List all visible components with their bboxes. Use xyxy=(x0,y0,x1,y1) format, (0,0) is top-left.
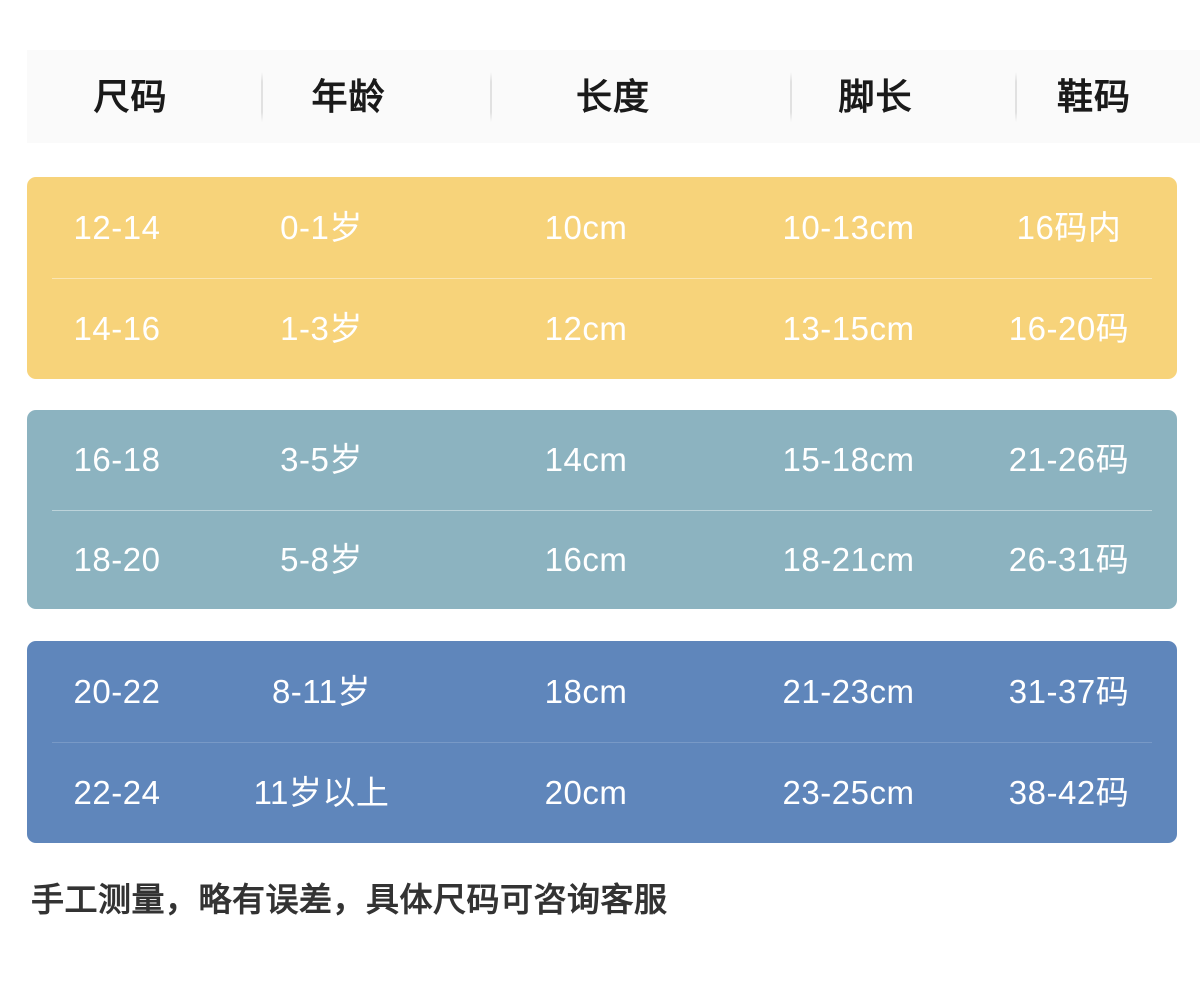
cell-foot-length: 23-25cm xyxy=(736,742,961,843)
column-header-length-label: 长度 xyxy=(576,79,650,115)
column-header-length: 长度 xyxy=(463,50,763,143)
cell-age: 3-5岁 xyxy=(207,410,436,510)
size-group-block: 16-18 3-5岁 14cm 15-18cm 21-26码 18-20 5-8… xyxy=(27,410,1177,609)
column-header-age: 年龄 xyxy=(234,50,463,143)
column-header-size-label: 尺码 xyxy=(93,79,167,115)
cell-size: 16-18 xyxy=(27,410,207,510)
cell-length: 20cm xyxy=(436,742,736,843)
column-header-age-label: 年龄 xyxy=(311,79,385,115)
cell-foot-length: 21-23cm xyxy=(736,641,961,742)
table-row: 22-24 11岁以上 20cm 23-25cm 38-42码 xyxy=(27,742,1177,843)
header-column-divider xyxy=(261,72,263,122)
cell-age: 11岁以上 xyxy=(207,742,436,843)
table-row: 12-14 0-1岁 10cm 10-13cm 16码内 xyxy=(27,177,1177,278)
size-group-block: 20-22 8-11岁 18cm 21-23cm 31-37码 22-24 11… xyxy=(27,641,1177,843)
column-header-shoe-size-label: 鞋码 xyxy=(1057,79,1131,115)
column-header-foot-length: 脚长 xyxy=(763,50,988,143)
header-column-divider xyxy=(1015,72,1017,122)
cell-shoe-size: 16-20码 xyxy=(961,278,1177,379)
cell-age: 0-1岁 xyxy=(207,177,436,278)
cell-shoe-size: 16码内 xyxy=(961,177,1177,278)
cell-size: 18-20 xyxy=(27,510,207,610)
measurement-note: 手工测量，略有误差，具体尺码可咨询客服 xyxy=(31,880,668,920)
cell-length: 10cm xyxy=(436,177,736,278)
column-header-shoe-size: 鞋码 xyxy=(988,50,1200,143)
header-column-divider xyxy=(490,72,492,122)
table-row: 16-18 3-5岁 14cm 15-18cm 21-26码 xyxy=(27,410,1177,510)
cell-length: 18cm xyxy=(436,641,736,742)
cell-foot-length: 13-15cm xyxy=(736,278,961,379)
cell-shoe-size: 38-42码 xyxy=(961,742,1177,843)
cell-age: 5-8岁 xyxy=(207,510,436,610)
column-header-foot-length-label: 脚长 xyxy=(838,79,912,115)
cell-size: 14-16 xyxy=(27,278,207,379)
table-row: 20-22 8-11岁 18cm 21-23cm 31-37码 xyxy=(27,641,1177,742)
column-header-size: 尺码 xyxy=(27,50,234,143)
cell-size: 20-22 xyxy=(27,641,207,742)
cell-shoe-size: 21-26码 xyxy=(961,410,1177,510)
cell-size: 22-24 xyxy=(27,742,207,843)
cell-shoe-size: 31-37码 xyxy=(961,641,1177,742)
cell-length: 14cm xyxy=(436,410,736,510)
size-chart: 尺码 年龄 长度 脚长 鞋码 12-14 0-1岁 10cm 10-13cm 1… xyxy=(0,0,1200,983)
size-group-block: 12-14 0-1岁 10cm 10-13cm 16码内 14-16 1-3岁 … xyxy=(27,177,1177,379)
cell-foot-length: 15-18cm xyxy=(736,410,961,510)
cell-length: 12cm xyxy=(436,278,736,379)
cell-age: 8-11岁 xyxy=(207,641,436,742)
cell-foot-length: 10-13cm xyxy=(736,177,961,278)
cell-foot-length: 18-21cm xyxy=(736,510,961,610)
cell-age: 1-3岁 xyxy=(207,278,436,379)
table-header-row: 尺码 年龄 长度 脚长 鞋码 xyxy=(27,50,1200,143)
cell-size: 12-14 xyxy=(27,177,207,278)
table-row: 14-16 1-3岁 12cm 13-15cm 16-20码 xyxy=(27,278,1177,379)
header-column-divider xyxy=(790,72,792,122)
cell-length: 16cm xyxy=(436,510,736,610)
table-row: 18-20 5-8岁 16cm 18-21cm 26-31码 xyxy=(27,510,1177,610)
cell-shoe-size: 26-31码 xyxy=(961,510,1177,610)
